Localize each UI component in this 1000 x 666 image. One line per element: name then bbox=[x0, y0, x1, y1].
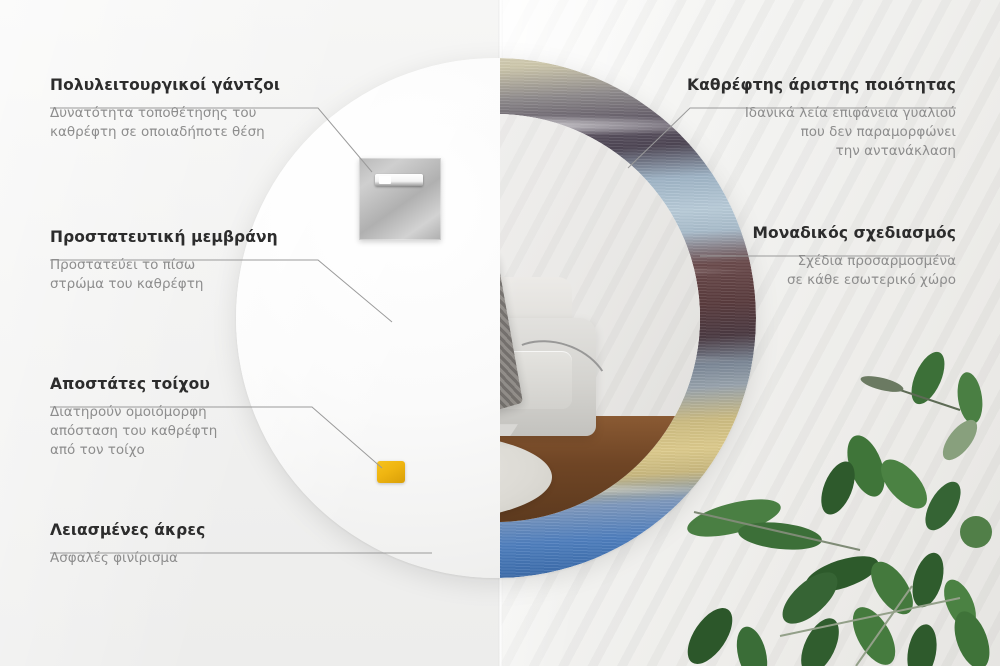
callout-desc-membrane: Προστατεύει το πίσω στρώμα του καθρέφτη bbox=[50, 256, 278, 294]
callout-quality: Καθρέφτης άριστης ποιότητας Ιδανικά λεία… bbox=[687, 76, 956, 161]
desc-line: σε κάθε εσωτερικό χώρο bbox=[787, 272, 956, 288]
callout-desc-design: Σχέδια προσαρμοσμένα σε κάθε εσωτερικό χ… bbox=[752, 252, 956, 290]
desc-line: καθρέφτη σε οποιαδήποτε θέση bbox=[50, 124, 265, 140]
desc-line: Σχέδια προσαρμοσμένα bbox=[798, 253, 956, 269]
desc-line: Προστατεύει το πίσω bbox=[50, 257, 195, 273]
desc-line: στρώμα του καθρέφτη bbox=[50, 276, 203, 292]
desc-line: την αντανάκλαση bbox=[836, 143, 956, 159]
desc-line: απόσταση του καθρέφτη bbox=[50, 423, 217, 439]
desc-line: Δυνατότητα τοποθέτησης του bbox=[50, 105, 256, 121]
desc-line: Ασφαλές φινίρισμα bbox=[50, 550, 178, 566]
desc-line: που δεν παραμορφώνει bbox=[801, 124, 956, 140]
callout-spacers: Αποστάτες τοίχου Διατηρούν ομοιόμορφη απ… bbox=[50, 375, 217, 460]
callout-title-membrane: Προστατευτική μεμβράνη bbox=[50, 228, 278, 247]
callout-desc-hooks: Δυνατότητα τοποθέτησης του καθρέφτη σε ο… bbox=[50, 104, 280, 142]
desc-line: Διατηρούν ομοιόμορφη bbox=[50, 404, 207, 420]
callout-title-hooks: Πολυλειτουργικοί γάντζοι bbox=[50, 76, 280, 95]
callout-desc-edges: Ασφαλές φινίρισμα bbox=[50, 549, 205, 568]
callout-title-spacers: Αποστάτες τοίχου bbox=[50, 375, 217, 394]
callout-title-design: Μοναδικός σχεδιασμός bbox=[752, 224, 956, 243]
callout-title-edges: Λειασμένες άκρες bbox=[50, 521, 205, 540]
callout-design: Μοναδικός σχεδιασμός Σχέδια προσαρμοσμέν… bbox=[752, 224, 956, 290]
callout-desc-quality: Ιδανικά λεία επιφάνεια γυαλιού που δεν π… bbox=[687, 104, 956, 161]
callout-hooks: Πολυλειτουργικοί γάντζοι Δυνατότητα τοπο… bbox=[50, 76, 280, 142]
infographic-canvas: Πολυλειτουργικοί γάντζοι Δυνατότητα τοπο… bbox=[0, 0, 1000, 666]
callout-membrane: Προστατευτική μεμβράνη Προστατεύει το πί… bbox=[50, 228, 278, 294]
callout-desc-spacers: Διατηρούν ομοιόμορφη απόσταση του καθρέφ… bbox=[50, 403, 217, 460]
desc-line: Ιδανικά λεία επιφάνεια γυαλιού bbox=[745, 105, 956, 121]
callout-title-quality: Καθρέφτης άριστης ποιότητας bbox=[687, 76, 956, 95]
callout-edges: Λειασμένες άκρες Ασφαλές φινίρισμα bbox=[50, 521, 205, 568]
desc-line: από τον τοίχο bbox=[50, 442, 145, 458]
